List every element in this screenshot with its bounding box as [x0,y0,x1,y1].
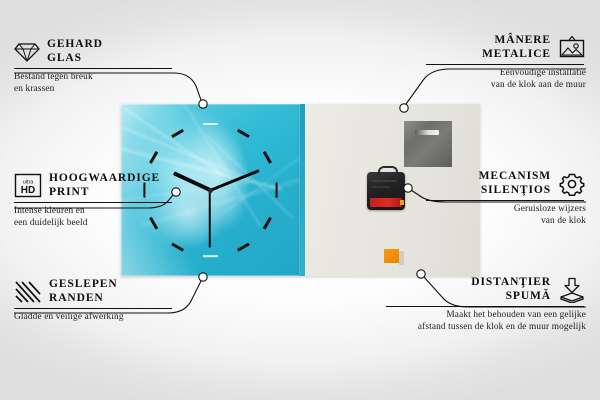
mechanism-detail [371,180,397,182]
feature-title-line2: SILENŢIOS [479,184,551,198]
spacer-foam-icon [558,277,586,303]
feature-divider [14,68,172,69]
feature-desc-line1: Maakt het behouden van een gelijke [386,310,586,322]
feature-desc-line1: Eenvoudige installatie [426,68,586,80]
feature-desc-line1: Gladde en veilige afwerking [14,312,174,324]
feature-desc-line1: Bestand tegen breuk [14,72,174,84]
feature-divider [14,308,172,309]
feature-desc: Bestand tegen breuk en krassen [14,72,174,95]
feature-gehard-glas[interactable]: GEHARD GLAS Bestand tegen breuk en krass… [14,38,174,95]
polished-edges-icon [14,280,42,304]
feature-title-line1: MECANISM [479,170,551,184]
foam-spacer-shadow [399,251,404,265]
feature-title-line2: SPUMĂ [471,290,551,304]
feature-desc: Maakt het behouden van een gelijke afsta… [386,310,586,333]
feature-title-line1: HOOGWAARDIGE [49,172,160,186]
feature-mecanism-silentios[interactable]: MECANISM SILENŢIOS Geruisloze wijzers va… [426,170,586,227]
feature-title-line2: METALICE [482,48,551,62]
mechanism-hook [378,166,398,177]
feature-desc: Intense kleuren en een duidelijk beeld [14,206,174,229]
feature-desc-line2: een duidelijk beeld [14,218,174,230]
feature-divider [386,306,584,307]
feature-heading: MÂNERE METALICE [426,34,586,61]
feature-title-line2: GLAS [47,52,103,66]
feature-heading: ultra HD HOOGWAARDIGE PRINT [14,172,174,199]
feature-desc-line1: Intense kleuren en [14,206,174,218]
feature-heading: GESLEPEN RANDEN [14,278,174,305]
feature-title-line1: GEHARD [47,38,103,52]
panel-edge-strip [300,104,305,276]
feature-desc: Geruisloze wijzers van de klok [426,204,586,227]
hanger-slot [415,130,439,135]
feature-manere-metalice[interactable]: MÂNERE METALICE Eenvoudige installatie v… [426,34,586,91]
feature-divider [426,64,584,65]
feature-desc: Eenvoudige installatie van de klok aan d… [426,68,586,91]
feature-heading: GEHARD GLAS [14,38,174,65]
clock-mechanism [367,172,405,210]
feature-desc-line1: Geruisloze wijzers [426,204,586,216]
feature-title-line1: GESLEPEN [49,278,118,292]
gear-icon [558,171,586,197]
battery [370,198,402,207]
feature-desc-line2: afstand tussen de klok en de muur mogeli… [386,322,586,334]
feature-distantier-spuma[interactable]: DISTANŢIER SPUMĂ Maakt het behouden van … [386,276,586,333]
feature-divider [426,200,584,201]
feature-heading: MECANISM SILENŢIOS [426,170,586,197]
ultra-hd-icon: ultra HD [14,173,42,198]
feature-hoogwaardige-print[interactable]: ultra HD HOOGWAARDIGE PRINT Intense kleu… [14,172,174,229]
feature-title-line2: PRINT [49,186,160,200]
diamond-icon [14,41,40,63]
picture-hanger-icon [558,35,586,61]
feature-title-line1: DISTANŢIER [471,276,551,290]
metal-hanger [404,121,452,167]
feature-geslepen-randen[interactable]: GESLEPEN RANDEN Gladde en veilige afwerk… [14,278,174,324]
feature-desc-line2: van de klok aan de muur [426,80,586,92]
feature-desc-line2: van de klok [426,216,586,228]
infographic-canvas: GEHARD GLAS Bestand tegen breuk en krass… [0,0,600,400]
foam-spacer [384,249,399,263]
feature-heading: DISTANŢIER SPUMĂ [386,276,586,303]
feature-title-line2: RANDEN [49,292,118,306]
svg-text:HD: HD [21,185,35,196]
feature-title-line1: MÂNERE [482,34,551,48]
feature-divider [14,202,172,203]
feature-desc: Gladde en veilige afwerking [14,312,174,324]
feature-desc-line2: en krassen [14,84,174,96]
mechanism-detail [371,186,391,188]
